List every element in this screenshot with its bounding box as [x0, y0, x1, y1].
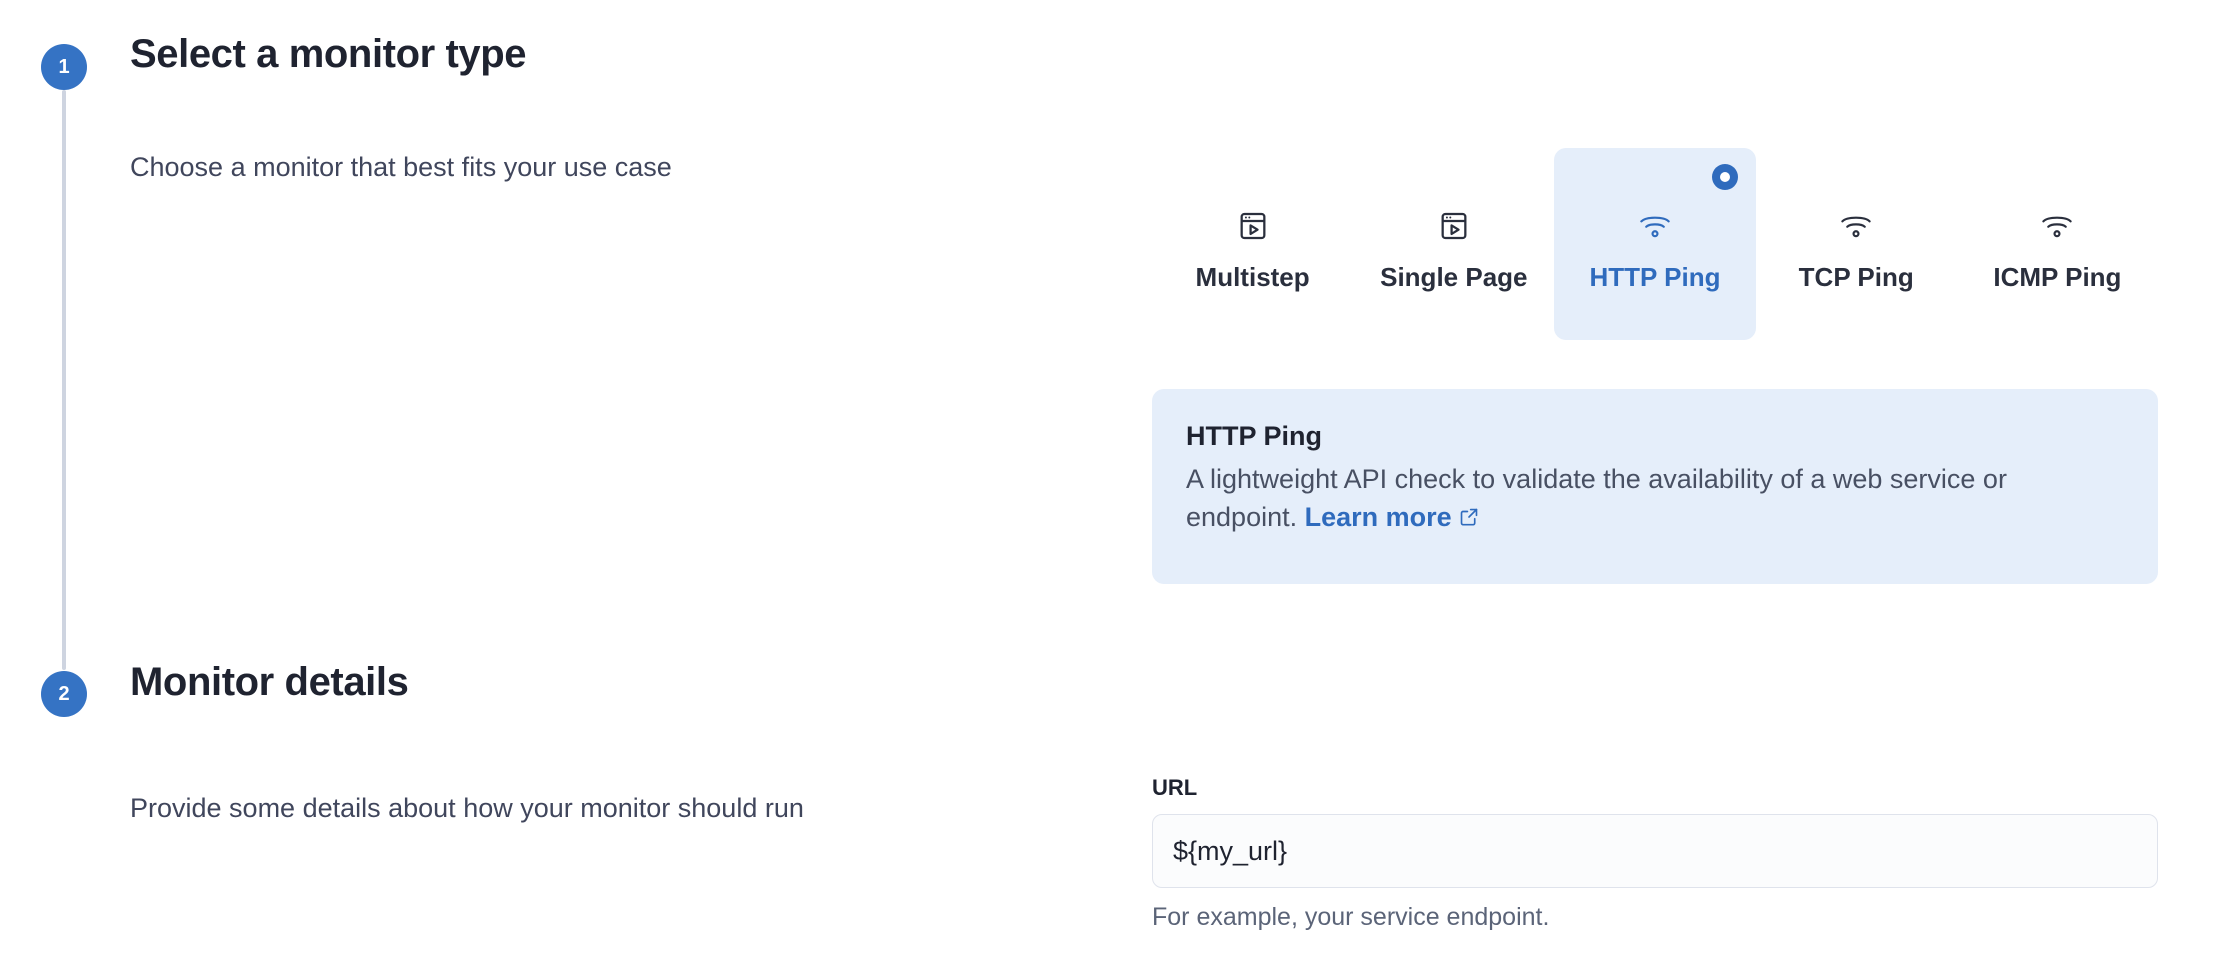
url-field-block: URL For example, your service endpoint. — [1152, 775, 2158, 932]
step-number: 1 — [58, 57, 69, 77]
wifi-icon — [2039, 204, 2075, 248]
info-panel-title: HTTP Ping — [1186, 421, 2124, 452]
monitor-type-label: TCP Ping — [1799, 262, 1914, 293]
monitor-type-label: HTTP Ping — [1590, 262, 1721, 293]
external-link-icon — [1458, 500, 1480, 538]
learn-more-label: Learn more — [1305, 502, 1452, 532]
monitor-type-card-single-page[interactable]: Single Page — [1353, 148, 1554, 340]
browser-play-icon — [1236, 204, 1270, 248]
monitor-setup-page: 1 2 Select a monitor type Choose a monit… — [0, 0, 2218, 958]
wifi-icon — [1838, 204, 1874, 248]
step-connector-line — [62, 90, 66, 670]
monitor-type-card-icmp-ping[interactable]: ICMP Ping — [1957, 148, 2158, 340]
browser-play-icon — [1437, 204, 1471, 248]
info-panel-description: A lightweight API check to validate the … — [1186, 460, 2124, 539]
step-number: 2 — [58, 684, 69, 704]
wifi-icon — [1637, 204, 1673, 248]
monitor-type-card-multistep[interactable]: Multistep — [1152, 148, 1353, 340]
radio-selected-icon[interactable] — [1712, 164, 1738, 190]
monitor-type-card-tcp-ping[interactable]: TCP Ping — [1756, 148, 1957, 340]
section-title-select-monitor-type: Select a monitor type — [130, 32, 526, 77]
url-field-label: URL — [1152, 775, 2158, 801]
monitor-type-label: Single Page — [1380, 262, 1527, 293]
monitor-type-info-panel: HTTP Ping A lightweight API check to val… — [1152, 389, 2158, 584]
section-subtitle-monitor-details: Provide some details about how your moni… — [130, 793, 804, 824]
monitor-type-label: ICMP Ping — [1993, 262, 2121, 293]
monitor-type-card-http-ping[interactable]: HTTP Ping — [1554, 148, 1755, 340]
monitor-type-selector: Multistep Single Page — [1152, 148, 2158, 340]
step-bullet-2: 2 — [41, 671, 87, 717]
section-title-monitor-details: Monitor details — [130, 660, 408, 705]
learn-more-link[interactable]: Learn more — [1305, 502, 1480, 532]
monitor-type-label: Multistep — [1196, 262, 1310, 293]
url-field-help-text: For example, your service endpoint. — [1152, 903, 2158, 932]
section-subtitle-select-monitor-type: Choose a monitor that best fits your use… — [130, 152, 672, 183]
step-bullet-1: 1 — [41, 44, 87, 90]
url-input[interactable] — [1152, 814, 2158, 888]
